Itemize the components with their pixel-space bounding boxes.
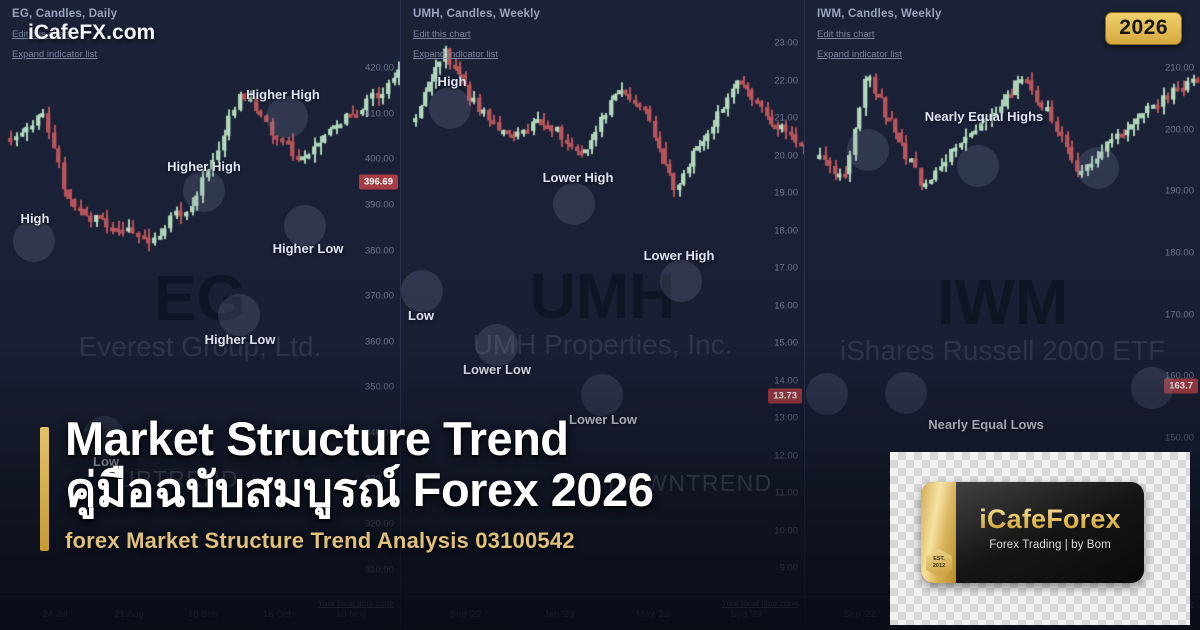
swing-point-marker: [266, 96, 308, 138]
swing-point-label: Higher High: [246, 87, 320, 102]
group-structure-label: Nearly Equal Highs: [925, 109, 1043, 124]
logo-tagline: Forex Trading | by Bom: [956, 539, 1144, 551]
gold-accent-bar: [40, 427, 49, 551]
swing-point-label: Higher Low: [273, 241, 344, 256]
swing-point-marker: [806, 373, 848, 415]
swing-point-marker: [13, 220, 55, 262]
swing-point-label: High: [438, 74, 467, 89]
est-label: EST.: [933, 556, 945, 563]
swing-point-marker: [581, 374, 623, 416]
logo-slot: iCafeForex Forex Trading | by Bom EST. 2…: [890, 452, 1190, 625]
est-year: 2012: [933, 563, 945, 570]
swing-point-marker: [885, 372, 927, 414]
swing-point-label: Lower High: [644, 248, 715, 263]
swing-point-marker: [957, 145, 999, 187]
swing-point-label: Lower Low: [463, 362, 531, 377]
swing-point-marker: [847, 129, 889, 171]
swing-point-label: Lower High: [543, 170, 614, 185]
swing-point-marker: [1077, 147, 1119, 189]
swing-point-marker: [183, 170, 225, 212]
icafeforex-logo-card: iCafeForex Forex Trading | by Bom EST. 2…: [921, 482, 1144, 583]
swing-point-marker: [429, 87, 471, 129]
year-badge: 2026: [1105, 12, 1182, 45]
title-line-2: คู่มือฉบับสมบูรณ์ Forex 2026: [65, 466, 895, 515]
swing-point-label: Higher Low: [205, 332, 276, 347]
swing-point-label: Higher High: [167, 159, 241, 174]
swing-point-label: High: [21, 211, 50, 226]
title-subtitle: forex Market Structure Trend Analysis 03…: [65, 528, 895, 554]
thumbnail-canvas: EG Everest Group, Ltd. UPTREND EG, Candl…: [0, 0, 1200, 630]
swing-point-label: Low: [408, 308, 434, 323]
swing-point-marker: [476, 324, 518, 366]
swing-point-marker: [401, 270, 443, 312]
site-brand-overlay: iCafeFX.com: [28, 21, 155, 45]
swing-point-marker: [218, 294, 260, 336]
swing-point-marker: [553, 183, 595, 225]
title-text-group: Market Structure Trend คู่มือฉบับสมบูรณ์…: [65, 415, 895, 554]
title-line-1: Market Structure Trend: [65, 415, 895, 464]
swing-point-marker: [660, 260, 702, 302]
swing-point-marker: [1131, 367, 1173, 409]
logo-wordmark: iCafeForex: [956, 504, 1144, 535]
